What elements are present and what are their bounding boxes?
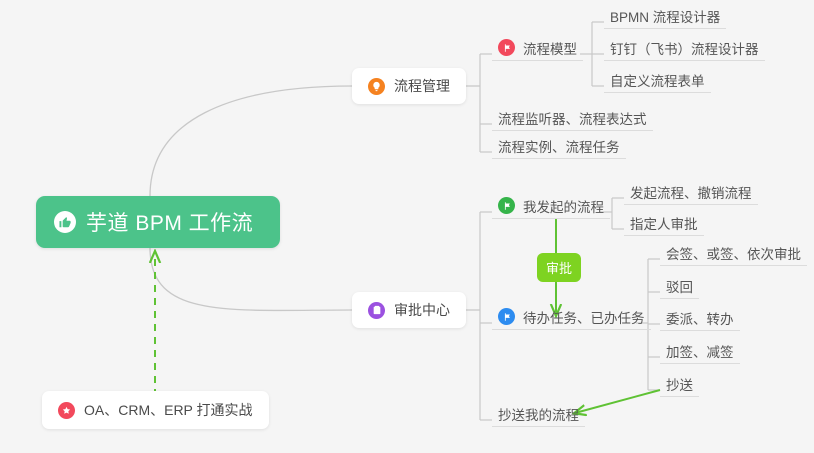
node-todo-done-tasks[interactable]: 待办任务、已办任务 bbox=[492, 305, 651, 330]
node-dingtalk-feishu-designer[interactable]: 钉钉（飞书）流程设计器 bbox=[604, 36, 765, 61]
node-process-listener-expression[interactable]: 流程监听器、流程表达式 bbox=[492, 106, 653, 131]
flag-icon bbox=[498, 197, 515, 214]
node-label-countersign-orsign-sequential: 会签、或签、依次审批 bbox=[666, 248, 801, 262]
node-label-add-remove-sign: 加签、减签 bbox=[666, 346, 734, 360]
node-label-integration-practice: OA、CRM、ERP 打通实战 bbox=[84, 400, 253, 420]
node-custom-process-form[interactable]: 自定义流程表单 bbox=[604, 68, 711, 93]
wire-root-to-approval-center bbox=[150, 248, 352, 310]
node-integration-practice[interactable]: OA、CRM、ERP 打通实战 bbox=[42, 391, 269, 429]
node-bpmn-designer[interactable]: BPMN 流程设计器 bbox=[604, 4, 726, 29]
node-cc[interactable]: 抄送 bbox=[660, 372, 699, 397]
node-countersign-orsign-sequential[interactable]: 会签、或签、依次审批 bbox=[660, 241, 807, 266]
node-label-reject: 驳回 bbox=[666, 281, 693, 295]
node-label-start-cancel-process: 发起流程、撤销流程 bbox=[630, 187, 752, 201]
node-label-process-instance-task: 流程实例、流程任务 bbox=[498, 141, 620, 155]
flag-icon bbox=[498, 39, 515, 56]
node-label-delegate-transfer: 委派、转办 bbox=[666, 313, 734, 327]
clipboard-icon bbox=[368, 302, 385, 319]
node-my-initiated-processes[interactable]: 我发起的流程 bbox=[492, 194, 610, 219]
node-label-process-listener-expression: 流程监听器、流程表达式 bbox=[498, 113, 647, 127]
annotation-chip-approval: 审批 bbox=[537, 253, 581, 282]
branch-label-process-management: 流程管理 bbox=[394, 76, 450, 96]
node-start-cancel-process[interactable]: 发起流程、撤销流程 bbox=[624, 180, 758, 205]
node-label-cc-to-me-processes: 抄送我的流程 bbox=[498, 409, 579, 423]
mindmap-canvas: 芋道 BPM 工作流 流程管理 流程模型 BPMN 流程设计器 钉钉（飞书）流程… bbox=[0, 0, 814, 453]
node-label-process-model: 流程模型 bbox=[523, 43, 577, 57]
branch-node-process-management[interactable]: 流程管理 bbox=[352, 68, 466, 104]
flag-icon bbox=[498, 308, 515, 325]
root-node[interactable]: 芋道 BPM 工作流 bbox=[36, 196, 280, 248]
lightbulb-icon bbox=[368, 78, 385, 95]
node-add-remove-sign[interactable]: 加签、减签 bbox=[660, 339, 740, 364]
root-label: 芋道 BPM 工作流 bbox=[86, 207, 253, 237]
star-icon bbox=[58, 402, 75, 419]
node-label-custom-process-form: 自定义流程表单 bbox=[610, 75, 705, 89]
node-cc-to-me-processes[interactable]: 抄送我的流程 bbox=[492, 402, 585, 427]
node-label-cc: 抄送 bbox=[666, 379, 693, 393]
node-label-bpmn-designer: BPMN 流程设计器 bbox=[610, 11, 720, 25]
arrow-cc-to-my-cc bbox=[575, 390, 660, 413]
node-designated-approver[interactable]: 指定人审批 bbox=[624, 211, 704, 236]
node-reject[interactable]: 驳回 bbox=[660, 274, 699, 299]
node-label-dingtalk-feishu-designer: 钉钉（飞书）流程设计器 bbox=[610, 43, 759, 57]
thumbs-up-icon bbox=[54, 211, 76, 233]
node-process-instance-task[interactable]: 流程实例、流程任务 bbox=[492, 134, 626, 159]
branch-node-approval-center[interactable]: 审批中心 bbox=[352, 292, 466, 328]
node-process-model[interactable]: 流程模型 bbox=[492, 36, 583, 61]
wire-root-to-process-management bbox=[150, 86, 352, 196]
branch-label-approval-center: 审批中心 bbox=[394, 300, 450, 320]
node-delegate-transfer[interactable]: 委派、转办 bbox=[660, 306, 740, 331]
node-label-todo-done-tasks: 待办任务、已办任务 bbox=[523, 312, 645, 326]
node-label-designated-approver: 指定人审批 bbox=[630, 218, 698, 232]
node-label-my-initiated-processes: 我发起的流程 bbox=[523, 201, 604, 215]
annotation-chip-approval-label: 审批 bbox=[546, 258, 572, 277]
